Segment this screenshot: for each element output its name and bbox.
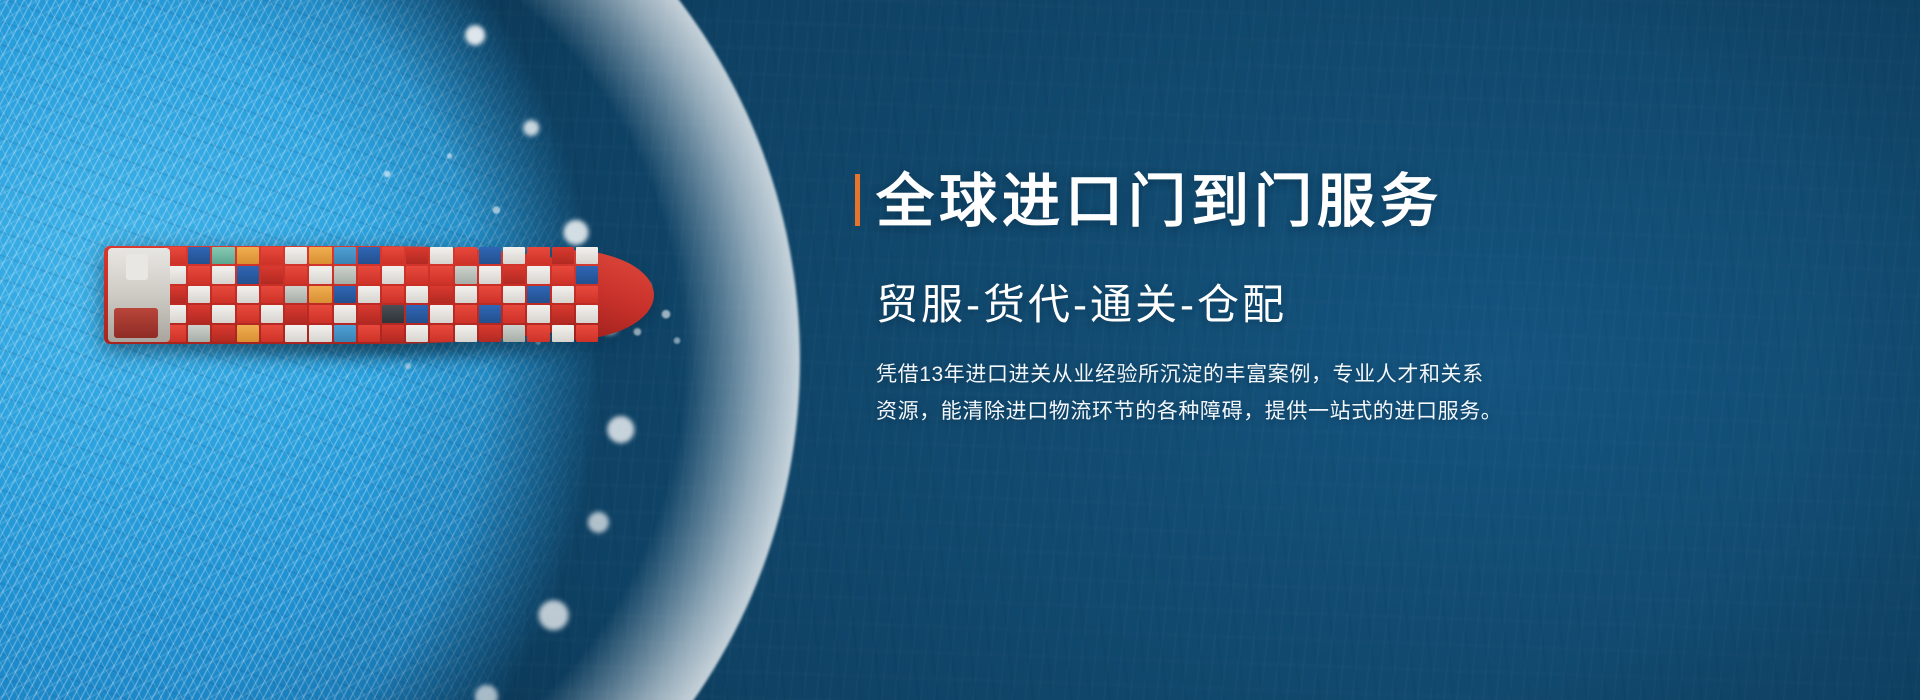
hero-banner: 全球进口门到门服务 贸服-货代-通关-仓配 凭借13年进口进关从业经验所沉淀的丰… [0, 0, 1920, 700]
container-stack [455, 247, 477, 342]
banner-description: 凭借13年进口进关从业经验所沉淀的丰富案例，专业人才和关系 资源，能清除进口物流… [876, 357, 1576, 431]
orange-accent-bar [855, 174, 860, 226]
container-stack [406, 247, 428, 342]
ship-superstructure [108, 248, 170, 342]
container-stack [479, 247, 501, 342]
container-stack [527, 247, 549, 342]
container-stack [358, 247, 380, 342]
description-line-1: 凭借13年进口进关从业经验所沉淀的丰富案例，专业人才和关系 [876, 363, 1484, 386]
banner-headline: 全球进口门到门服务 [876, 168, 1443, 236]
container-stack [552, 247, 574, 342]
container-stacks [164, 247, 598, 342]
container-stack [334, 247, 356, 342]
container-stack [430, 247, 452, 342]
container-stack [212, 247, 234, 342]
description-line-2: 资源，能清除进口物流环节的各种障碍，提供一站式的进口服务。 [876, 400, 1502, 423]
container-stack [382, 247, 404, 342]
ship-funnel [126, 254, 148, 280]
container-stack [188, 247, 210, 342]
container-stack [261, 247, 283, 342]
container-stack [576, 247, 598, 342]
headline-row: 全球进口门到门服务 [855, 168, 1755, 236]
container-stack [285, 247, 307, 342]
container-stack [309, 247, 331, 342]
container-ship-image [104, 246, 650, 344]
container-stack [237, 247, 259, 342]
container-stack [503, 247, 525, 342]
banner-subtitle: 贸服-货代-通关-仓配 [876, 280, 1755, 330]
banner-copy: 全球进口门到门服务 贸服-货代-通关-仓配 凭借13年进口进关从业经验所沉淀的丰… [855, 168, 1755, 430]
